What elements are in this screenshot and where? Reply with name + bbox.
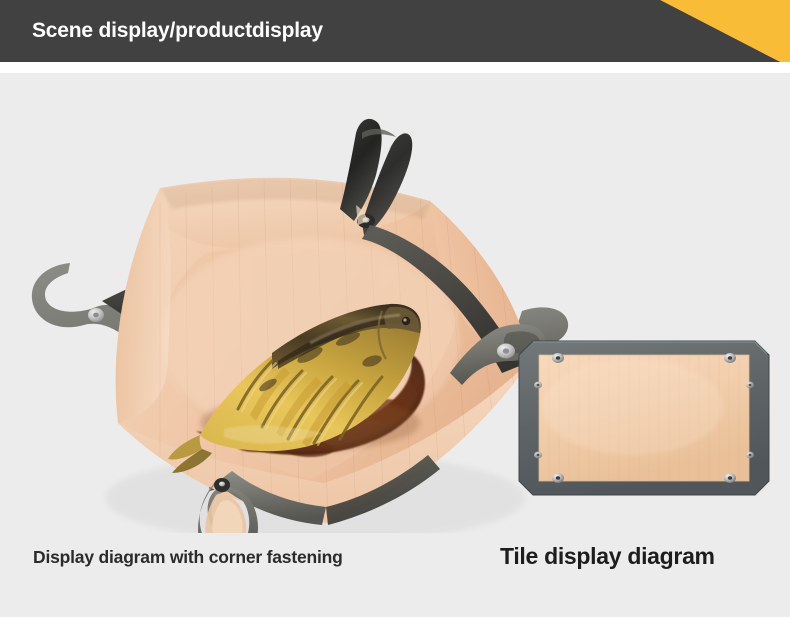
caption-tile-display: Tile display diagram [500, 543, 715, 570]
page-title: Scene display/productdisplay [32, 0, 323, 62]
corner-fastened-tray-image [10, 93, 580, 533]
tray-illustration [10, 93, 580, 533]
content-panel: Display diagram with corner fastening [0, 73, 790, 617]
caption-corner-fastening: Display diagram with corner fastening [33, 547, 343, 568]
tile-illustration [513, 337, 775, 499]
page-header: Scene display/productdisplay [0, 0, 790, 62]
flat-tile-mat-image [513, 337, 775, 499]
left-corner-snap [88, 308, 104, 322]
header-accent-wedge [620, 0, 790, 62]
